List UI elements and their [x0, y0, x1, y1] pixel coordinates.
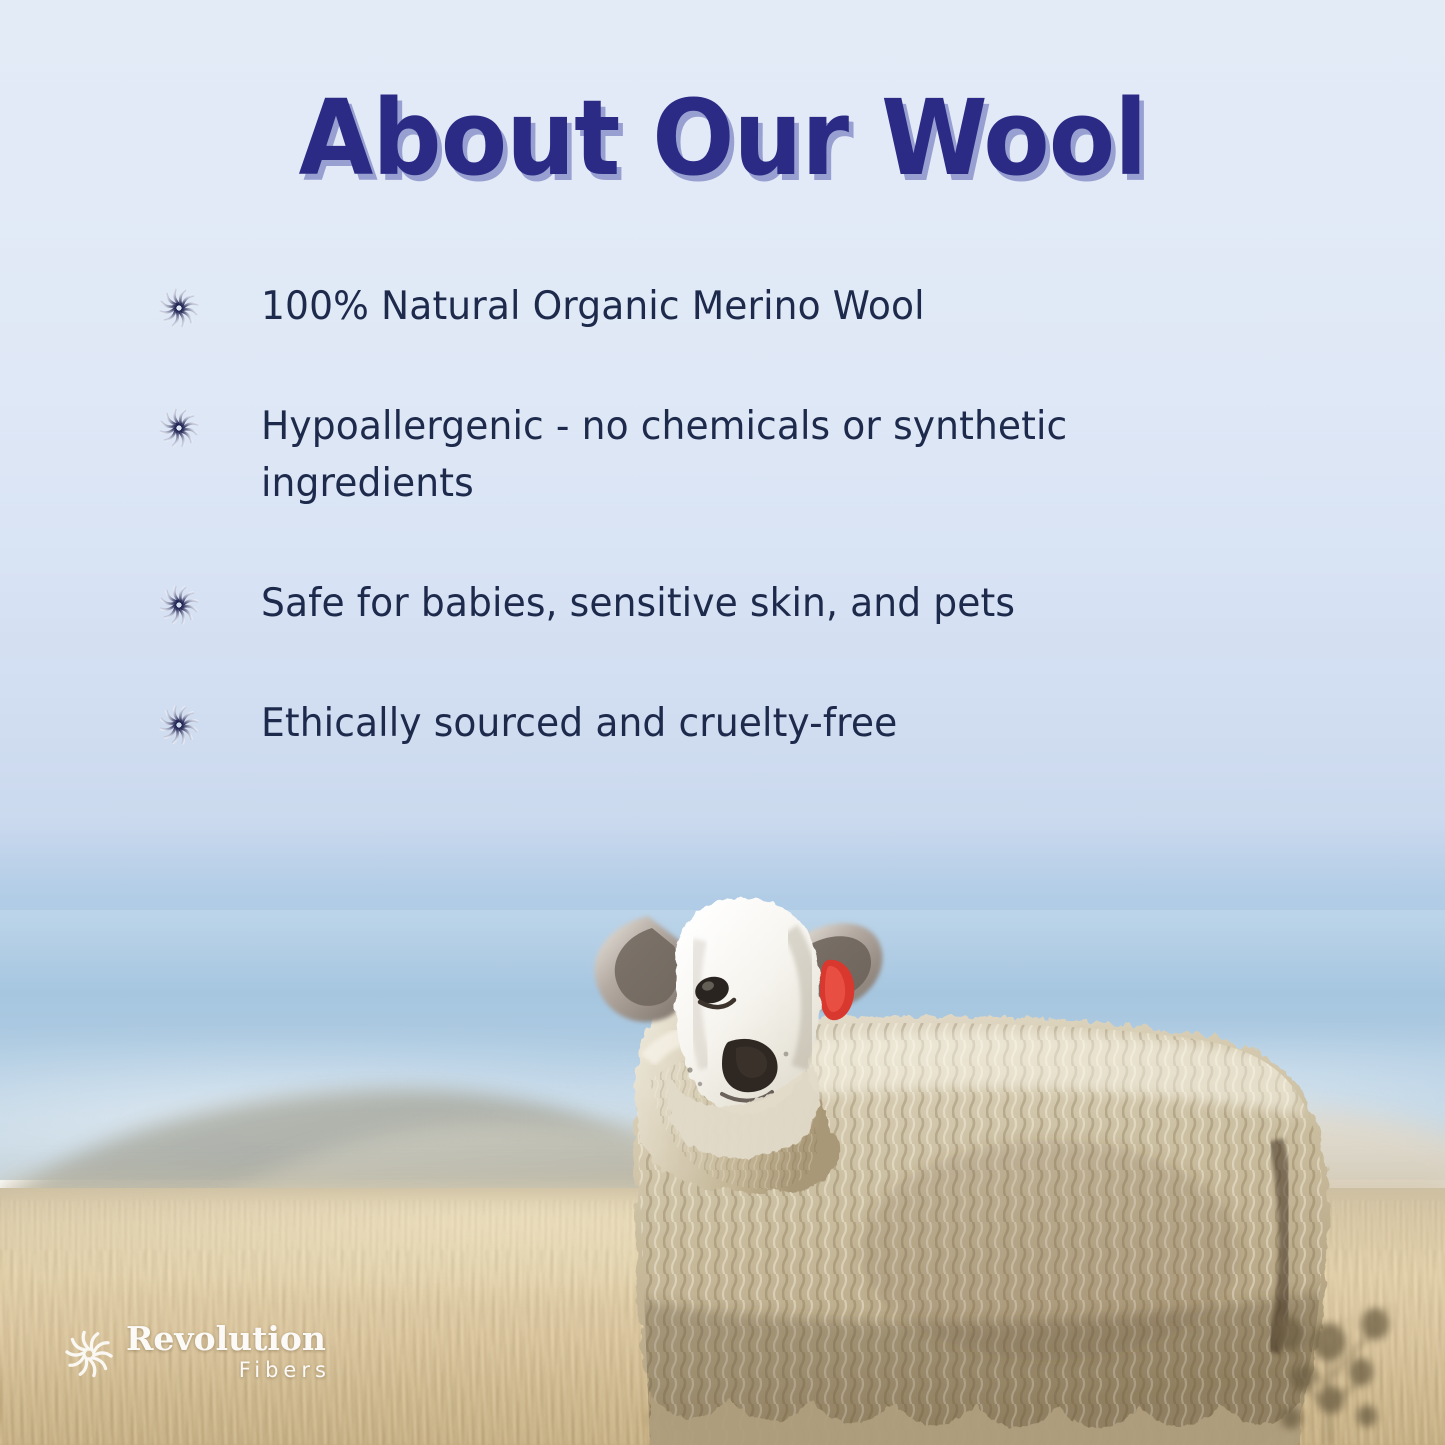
list-item-label: Hypoallergenic - no chemicals or synthet… — [261, 398, 1259, 513]
list-item-label: Ethically sourced and cruelty-free — [261, 695, 1259, 753]
about-our-wool-infographic: About Our Wool — [0, 0, 1445, 1445]
feature-list: 100% Natural Organic Merino Wool — [155, 278, 1295, 815]
logo-wordmark: Revolution Fibers — [126, 1322, 326, 1387]
spiral-fiber-icon — [155, 701, 203, 749]
spiral-fiber-logo-mark — [62, 1327, 116, 1381]
spiral-fiber-icon — [155, 284, 203, 332]
logo-brand-sub: Fibers — [239, 1355, 331, 1387]
list-item: Hypoallergenic - no chemicals or synthet… — [155, 398, 1295, 513]
list-item-label: Safe for babies, sensitive skin, and pet… — [261, 575, 1259, 633]
spiral-fiber-icon — [155, 404, 203, 452]
thistle-plant — [1233, 1230, 1423, 1445]
list-item-label: 100% Natural Organic Merino Wool — [261, 278, 1259, 336]
page-title: About Our Wool — [51, 86, 1395, 190]
spiral-fiber-icon — [155, 581, 203, 629]
list-item: Safe for babies, sensitive skin, and pet… — [155, 575, 1295, 633]
list-item: 100% Natural Organic Merino Wool — [155, 278, 1295, 336]
brand-logo: Revolution Fibers — [62, 1322, 326, 1387]
list-item: Ethically sourced and cruelty-free — [155, 695, 1295, 753]
logo-brand-name: Revolution — [126, 1322, 326, 1355]
